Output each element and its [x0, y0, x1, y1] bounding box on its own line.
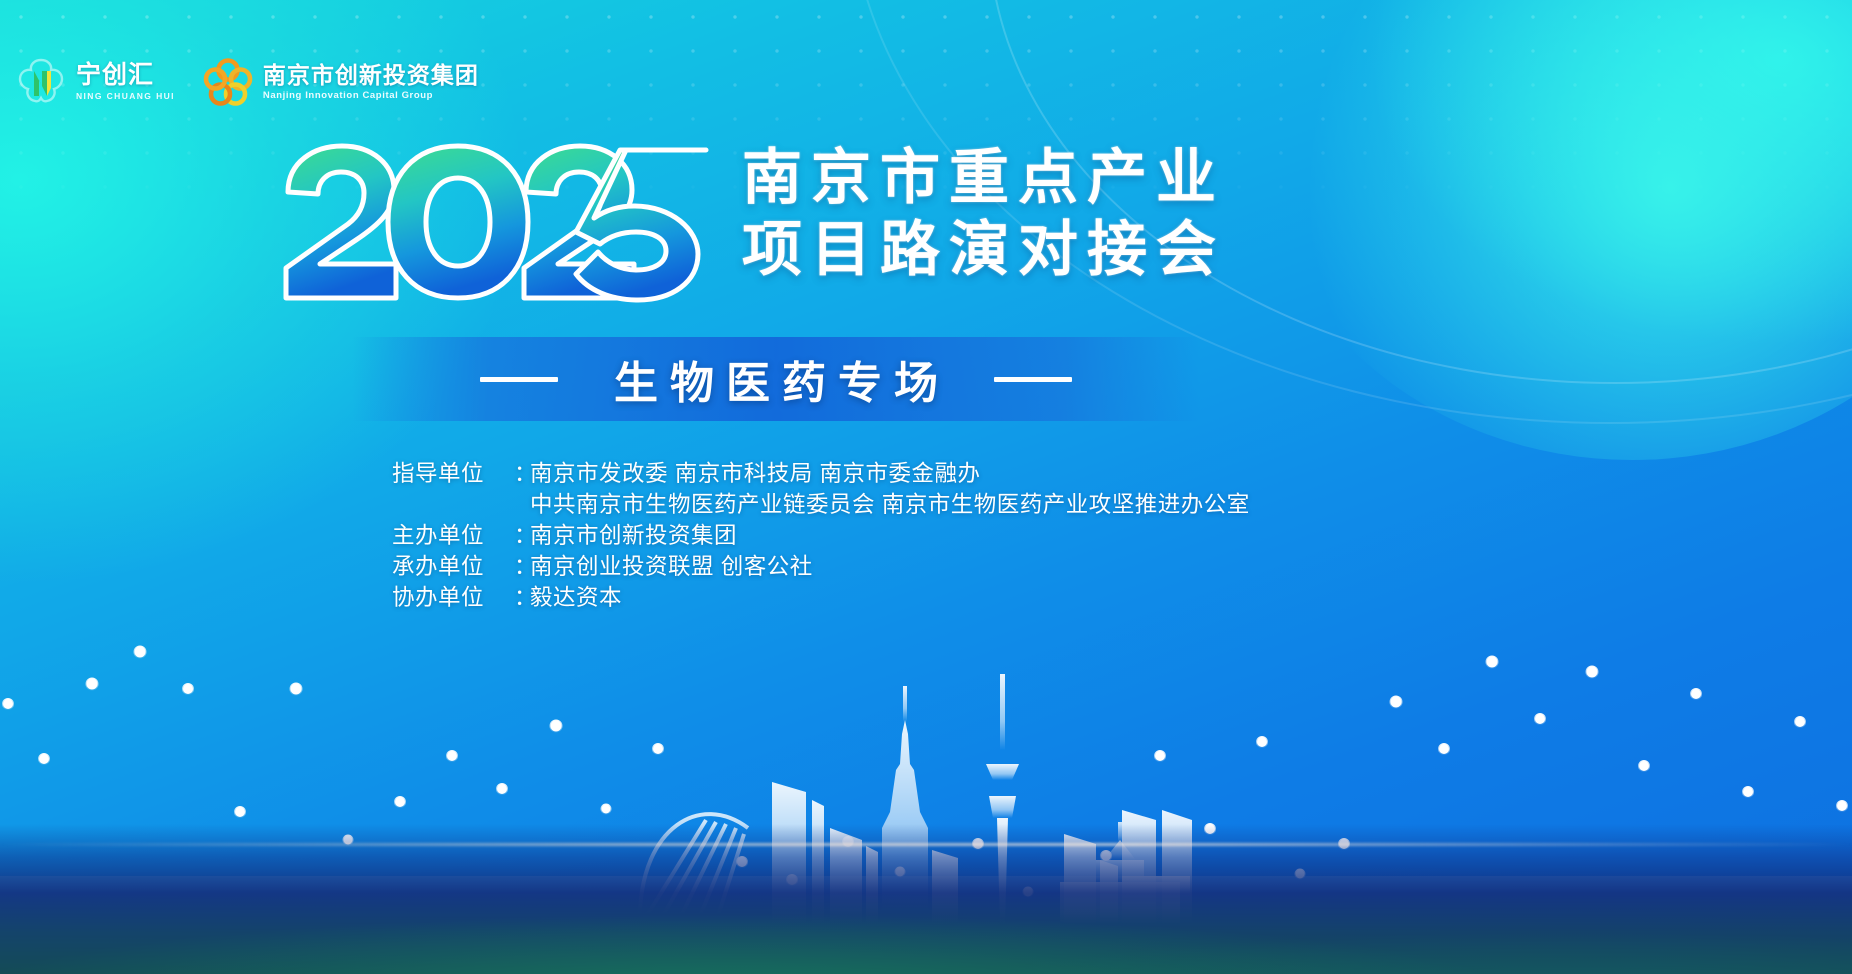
office-tower-b: [812, 800, 824, 924]
civic-hall: [1060, 822, 1180, 924]
dash-right-icon: [994, 377, 1072, 382]
organizer-value: 南京创业投资联盟 创客公社: [530, 551, 813, 582]
orange-flower-knot-logo-icon: [201, 55, 255, 109]
zifeng-tower: [882, 686, 928, 914]
office-tower-i: [1162, 810, 1192, 924]
subtitle-text: 生物医药专场: [602, 347, 950, 411]
logo-ning-chuang-hui-cn: 宁创汇: [76, 63, 175, 88]
year-2025-graphic: [276, 140, 716, 305]
organizer-label: 协办单位: [392, 582, 514, 613]
poster-root: 宁创汇 NING CHUANG HUI 南京市创新投资集团 Na: [0, 0, 1852, 974]
ground-green-glow: [0, 878, 1852, 974]
logo-ning-chuang-hui-en: NING CHUANG HUI: [76, 92, 175, 101]
tower-link-bridge: [1122, 876, 1190, 894]
logo-ning-chuang-hui[interactable]: 宁创汇 NING CHUANG HUI: [14, 55, 175, 109]
nanjing-skyline-silhouette: [0, 614, 1852, 974]
tv-tower: [986, 674, 1019, 924]
organizer-value: 南京市创新投资集团: [530, 520, 737, 551]
organizer-value: 南京市发改委 南京市科技局 南京市委金融办: [530, 458, 981, 489]
organizer-colon: ：: [514, 520, 530, 551]
organizer-list: 指导单位 ： 南京市发改委 南京市科技局 南京市委金融办 中共南京市生物医药产业…: [392, 458, 1250, 613]
horizon-line: [0, 843, 1852, 846]
office-tower-h: [1122, 810, 1156, 924]
organizer-colon: ：: [514, 582, 530, 613]
office-tower-g: [1100, 860, 1118, 924]
logo-nicg-en: Nanjing Innovation Capital Group: [263, 91, 479, 101]
organizer-label: 主办单位: [392, 520, 514, 551]
organizer-row: 指导单位 ： 南京市发改委 南京市科技局 南京市委金融办: [392, 458, 1250, 489]
organizer-colon: ：: [514, 458, 530, 489]
office-tower-a: [772, 782, 806, 924]
logo-nicg-cn: 南京市创新投资集团: [263, 64, 479, 87]
office-tower-f: [1064, 834, 1096, 924]
office-tower-e: [932, 850, 958, 924]
corner-glow-icon: [1252, 0, 1852, 460]
organizer-row: 中共南京市生物医药产业链委员会 南京市生物医药产业攻坚推进办公室: [392, 489, 1250, 520]
logo-bar: 宁创汇 NING CHUANG HUI 南京市创新投资集团 Na: [14, 55, 479, 109]
organizer-row: 承办单位 ： 南京创业投资联盟 创客公社: [392, 551, 1250, 582]
title-row: 南京市重点产业 项目路演对接会: [276, 140, 1225, 305]
ground-band: [0, 824, 1852, 974]
organizer-colon: ：: [514, 551, 530, 582]
organizer-row: 主办单位 ： 南京市创新投资集团: [392, 520, 1250, 551]
main-title-line-2: 项目路演对接会: [742, 216, 1225, 284]
main-title-line-1: 南京市重点产业: [742, 144, 1225, 212]
organizer-label: 指导单位: [392, 458, 514, 489]
organizer-value: 中共南京市生物医药产业链委员会 南京市生物医药产业攻坚推进办公室: [530, 489, 1250, 520]
logo-nanjing-innovation-capital-group[interactable]: 南京市创新投资集团 Nanjing Innovation Capital Gro…: [201, 55, 479, 109]
organizer-row: 协办单位 ： 毅达资本: [392, 582, 1250, 613]
office-tower-c: [830, 828, 862, 924]
nanjing-eye-bridge: [640, 814, 748, 916]
plum-blossom-n-logo-icon: [14, 55, 68, 109]
office-tower-d: [866, 846, 878, 924]
subtitle-row: 生物医药专场: [352, 337, 1200, 421]
main-title: 南京市重点产业 项目路演对接会: [742, 140, 1225, 284]
organizer-value: 毅达资本: [530, 582, 622, 613]
organizer-label: 承办单位: [392, 551, 514, 582]
dash-left-icon: [480, 377, 558, 382]
